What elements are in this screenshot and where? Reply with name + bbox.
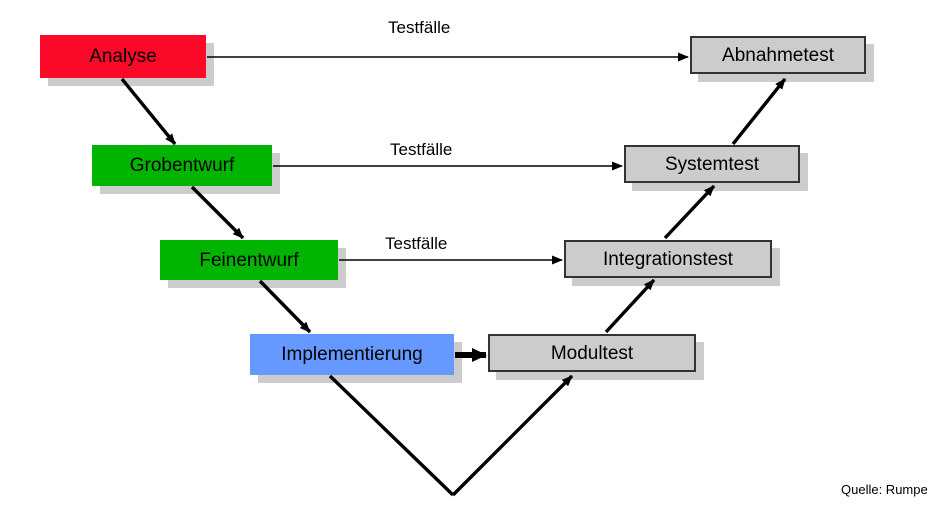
node-systemtest[interactable]: Systemtest [624, 145, 800, 183]
connector-feinentwurf-implementierung [260, 281, 310, 332]
source-note: Quelle: Rumpe [841, 482, 928, 497]
v-model-diagram: Analyse Grobentwurf Feinentwurf Implemen… [0, 0, 951, 517]
node-abnahmetest-label: Abnahmetest [722, 46, 834, 65]
connector-grobentwurf-feinentwurf [192, 187, 243, 238]
node-analyse[interactable]: Analyse [40, 35, 206, 78]
node-grobentwurf[interactable]: Grobentwurf [92, 145, 272, 186]
node-systemtest-label: Systemtest [665, 155, 759, 174]
node-feinentwurf-label: Feinentwurf [199, 251, 298, 270]
connector-implementierung-vertex [330, 376, 453, 495]
connector-integrationstest-systemtest [665, 186, 714, 238]
node-abnahmetest[interactable]: Abnahmetest [690, 36, 866, 74]
node-implementierung[interactable]: Implementierung [250, 334, 454, 375]
edge-label-testfaelle-1: Testfälle [388, 18, 450, 38]
node-modultest[interactable]: Modultest [488, 334, 696, 372]
node-grobentwurf-label: Grobentwurf [130, 156, 235, 175]
connector-systemtest-abnahmetest [733, 79, 785, 144]
node-integrationstest-label: Integrationstest [603, 250, 733, 269]
node-analyse-label: Analyse [89, 47, 157, 66]
node-feinentwurf[interactable]: Feinentwurf [160, 240, 338, 280]
connector-analyse-grobentwurf [122, 79, 175, 144]
connector-vertex-modultest [453, 376, 572, 495]
node-modultest-label: Modultest [551, 344, 633, 363]
node-integrationstest[interactable]: Integrationstest [564, 240, 772, 278]
edge-label-testfaelle-3: Testfälle [385, 234, 447, 254]
node-implementierung-label: Implementierung [281, 345, 423, 364]
edge-label-testfaelle-2: Testfälle [390, 140, 452, 160]
connector-modultest-integrationstest [606, 280, 654, 332]
